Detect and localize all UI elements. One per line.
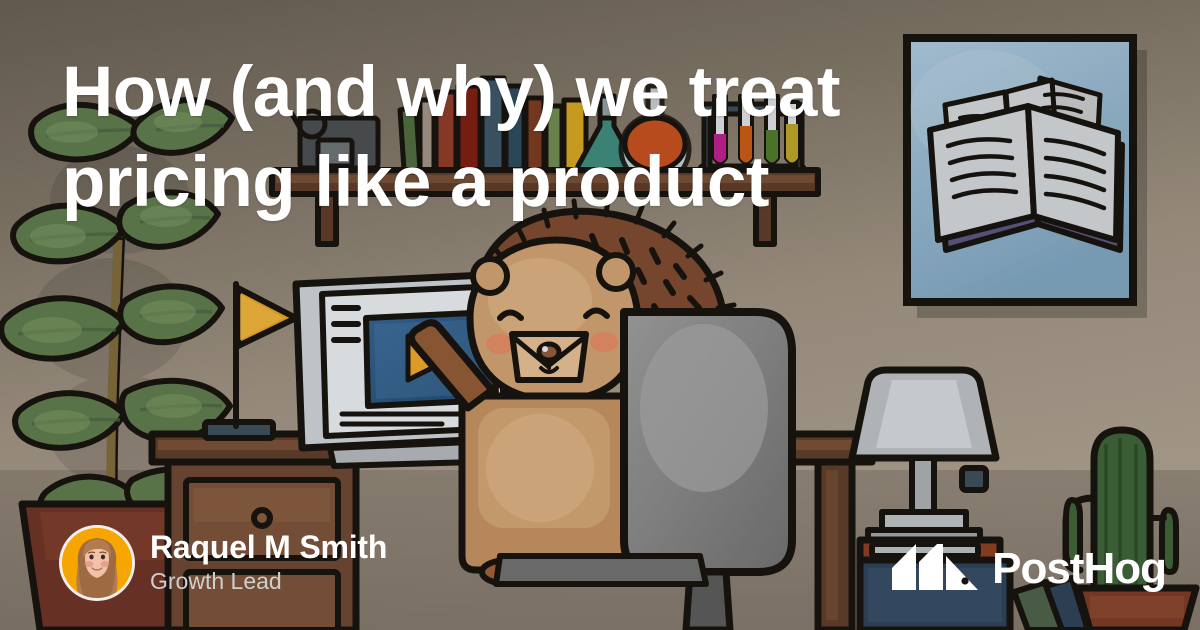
post-title: How (and why) we treat pricing like a pr… [62, 48, 942, 228]
author-block: Raquel M Smith Growth Lead [62, 528, 387, 598]
author-role: Growth Lead [150, 567, 387, 597]
posthog-logo-mark-icon [892, 544, 978, 594]
social-share-card: How (and why) we treat pricing like a pr… [0, 0, 1200, 630]
avatar [62, 528, 132, 598]
posthog-logo: PostHog [892, 544, 1166, 594]
avatar-portrait-illustration [62, 528, 132, 598]
author-text: Raquel M Smith Growth Lead [150, 529, 387, 598]
author-name: Raquel M Smith [150, 529, 387, 566]
posthog-wordmark: PostHog [992, 547, 1166, 591]
